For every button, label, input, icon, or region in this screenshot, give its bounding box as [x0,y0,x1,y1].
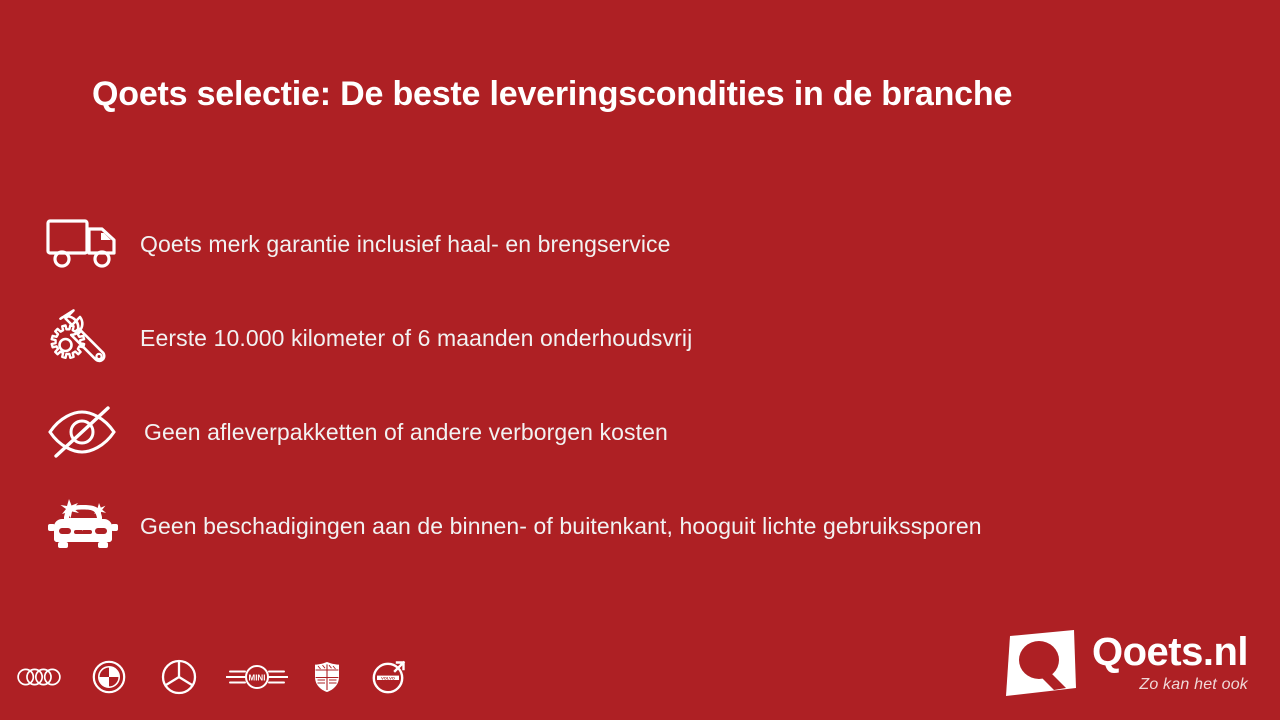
brand-logo-strip: MINI VOLVO [16,654,412,700]
porsche-logo [312,654,342,700]
bmw-logo [86,654,132,700]
eye-slash-icon [40,401,128,463]
qoets-q-mark-icon [1004,630,1082,702]
wrench-gear-icon [40,307,128,369]
feature-label: Eerste 10.000 kilometer of 6 maanden ond… [140,325,692,352]
feature-label: Geen beschadigingen aan de binnen- of bu… [140,513,982,540]
feature-list: Qoets merk garantie inclusief haal- en b… [40,205,1240,581]
qoets-tagline: Zo kan het ook [1139,675,1248,695]
feature-row: Geen afleverpakketten of andere verborge… [40,393,1240,471]
mini-logo: MINI [226,654,288,700]
slide-canvas: Qoets selectie: De beste leveringscondit… [0,0,1280,720]
audi-logo [16,654,62,700]
svg-text:VOLVO: VOLVO [381,676,395,681]
feature-row: Qoets merk garantie inclusief haal- en b… [40,205,1240,283]
qoets-logo[interactable]: Qoets.nl Zo kan het ook [1004,628,1248,702]
delivery-truck-icon [40,213,128,275]
damaged-car-icon [40,495,128,557]
qoets-wordmark: Qoets.nl [1092,630,1248,674]
qoets-wordmark-block: Qoets.nl Zo kan het ook [1092,630,1248,695]
mercedes-benz-logo [156,654,202,700]
svg-text:MINI: MINI [249,674,266,683]
feature-row: Eerste 10.000 kilometer of 6 maanden ond… [40,299,1240,377]
feature-label: Qoets merk garantie inclusief haal- en b… [140,231,671,258]
feature-label: Geen afleverpakketten of andere verborge… [144,419,668,446]
feature-row: Geen beschadigingen aan de binnen- of bu… [40,487,1240,565]
page-title: Qoets selectie: De beste leveringscondit… [92,75,1012,114]
volvo-logo: VOLVO [366,654,412,700]
